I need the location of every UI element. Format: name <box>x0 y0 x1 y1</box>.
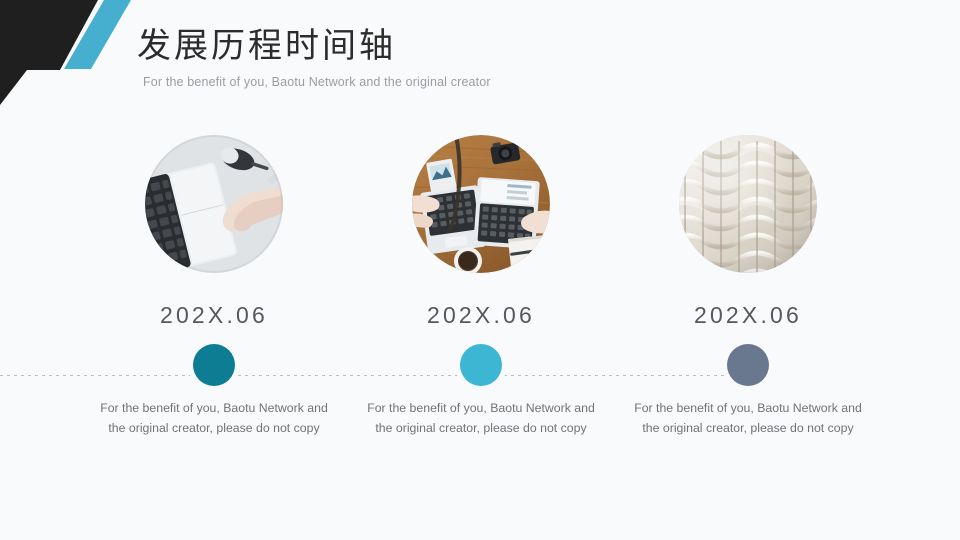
timeline-milestone: 202X.06 For the benefit of you, Baotu Ne… <box>600 135 896 439</box>
timeline-dot[interactable] <box>727 344 769 386</box>
milestone-dot-container <box>600 342 896 388</box>
parametric-wood-lattice-photo <box>679 135 817 273</box>
presentation-slide: 发展历程时间轴 For the benefit of you, Baotu Ne… <box>0 0 960 540</box>
milestone-date: 202X.06 <box>600 302 896 329</box>
milestone-date: 202X.06 <box>333 302 629 329</box>
desk-two-laptops-topdown-photo <box>412 135 550 273</box>
milestone-dot-container <box>66 342 362 388</box>
slide-header: 发展历程时间轴 For the benefit of you, Baotu Ne… <box>137 26 491 89</box>
milestone-description: For the benefit of you, Baotu Network an… <box>600 399 896 439</box>
timeline-dot[interactable] <box>193 344 235 386</box>
laptop-keyboard-hand-mouse-photo <box>145 135 283 273</box>
timeline-dot[interactable] <box>460 344 502 386</box>
timeline-milestone: 202X.06 For the benefit of you, Baotu Ne… <box>333 135 629 439</box>
page-subtitle: For the benefit of you, Baotu Network an… <box>143 75 491 89</box>
timeline-milestone: 202X.06 For the benefit of you, Baotu Ne… <box>66 135 362 439</box>
milestone-description: For the benefit of you, Baotu Network an… <box>333 399 629 439</box>
milestone-description: For the benefit of you, Baotu Network an… <box>66 399 362 439</box>
milestone-date: 202X.06 <box>66 302 362 329</box>
milestone-dot-container <box>333 342 629 388</box>
page-title: 发展历程时间轴 <box>137 26 491 67</box>
